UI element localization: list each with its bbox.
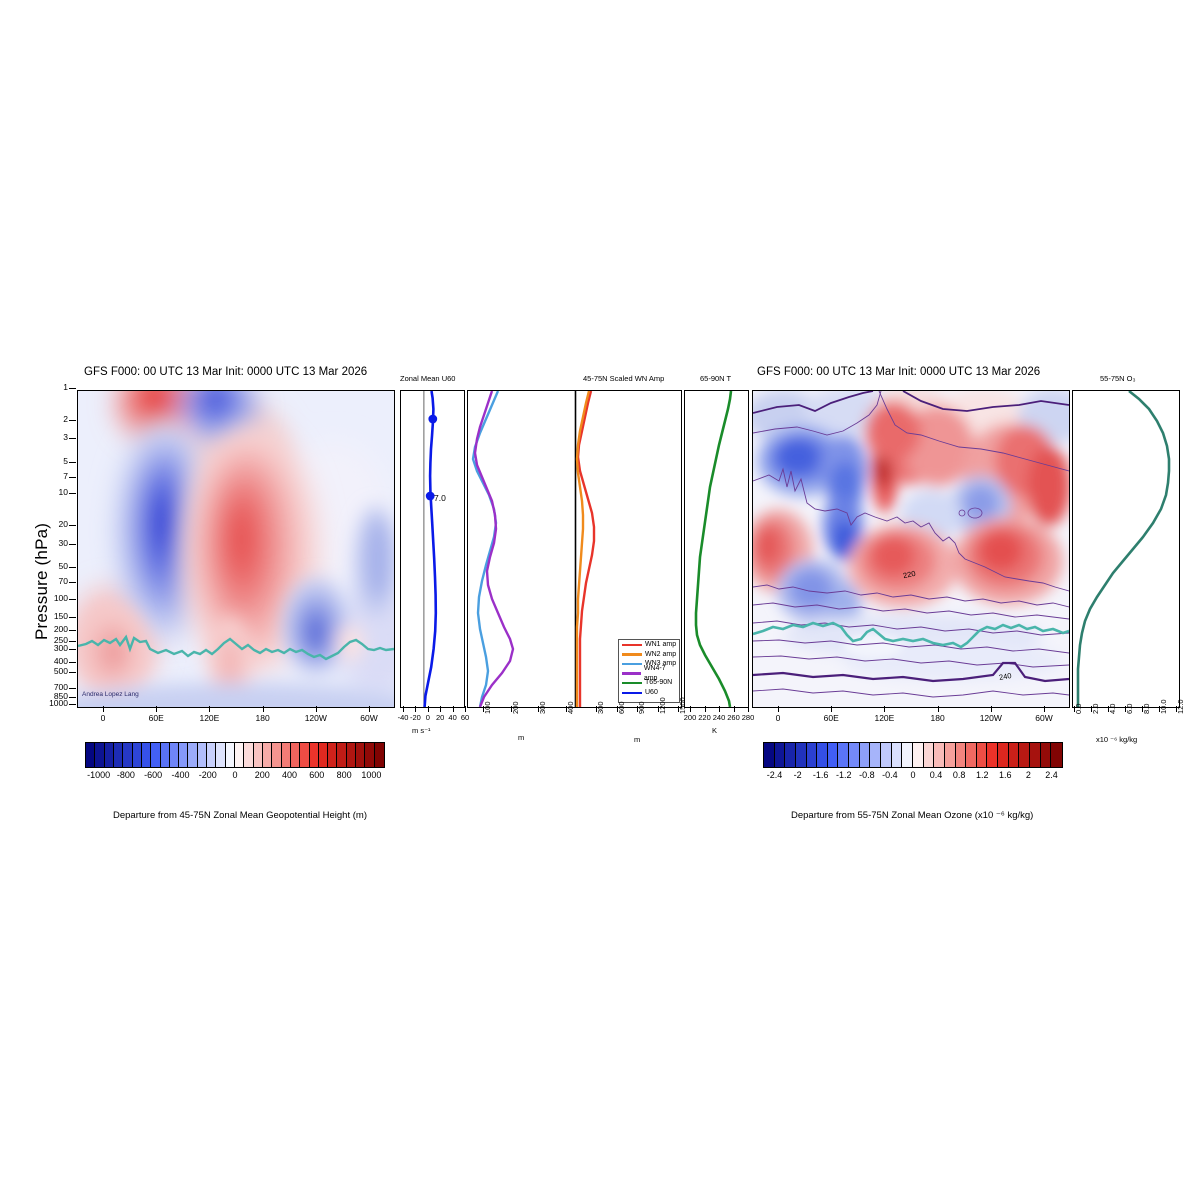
x-tick-label: 60W [1035, 713, 1052, 723]
colorbar-cell [86, 743, 95, 767]
x-tick-label: 200 [511, 701, 520, 714]
x-tick-label: 120E [874, 713, 894, 723]
x-tick-mark [938, 706, 939, 712]
legend-swatch [622, 672, 641, 674]
x-tick-label: 900 [637, 701, 646, 714]
y-tick-mark [69, 493, 76, 494]
colorbar-cell [207, 743, 216, 767]
legend-item: U60 [619, 688, 679, 698]
wn-amp-legend: WN1 ampWN2 ampWN3 ampWN4-7 ampT65-90NU60 [618, 639, 680, 703]
x-axis-wn-large-units: m [634, 735, 640, 744]
colorbar-cell [375, 743, 384, 767]
x-tick-mark [748, 706, 749, 712]
u60-plot [401, 391, 464, 707]
y-tick-mark [69, 477, 76, 478]
x-tick-label: 200 [684, 713, 697, 722]
colorbar-cell [337, 743, 346, 767]
colorbar-geopotential-height [85, 742, 385, 768]
colorbar-cell [272, 743, 281, 767]
x-tick-label: 180 [256, 713, 270, 723]
u60-marker-value: 7.0 [434, 493, 446, 503]
x-tick-label: 20 [436, 713, 444, 722]
x-tick-label: 0 [776, 713, 781, 723]
y-tick-label: 150 [34, 611, 68, 621]
legend-swatch [622, 663, 642, 665]
x-tick-label: 240 [713, 713, 726, 722]
x-tick-label: 60E [824, 713, 839, 723]
colorbar-cell [764, 743, 775, 767]
colorbar-cell [796, 743, 807, 767]
colorbar-cell [987, 743, 998, 767]
y-tick-label: 3 [34, 432, 68, 442]
colorbar-cell [817, 743, 828, 767]
colorbar-cell [998, 743, 1009, 767]
u60-marker-upper [428, 415, 437, 424]
x-tick-mark [884, 706, 885, 712]
colorbar-cell [300, 743, 309, 767]
colorbar-cell [161, 743, 170, 767]
colorbar-tick-label: 0.4 [930, 770, 943, 780]
colorbar-cell [319, 743, 328, 767]
panel-ozone-departure[interactable] [752, 390, 1070, 708]
x-tick-label: 40 [448, 713, 456, 722]
y-tick-label: 70 [34, 576, 68, 586]
left-main-title: GFS F000: 00 UTC 13 Mar Init: 0000 UTC 1… [84, 366, 367, 378]
colorbar-tick-label: 1000 [361, 770, 381, 780]
colorbar-cell [785, 743, 796, 767]
colorbar-tick-label: 0 [910, 770, 915, 780]
colorbar-cell [95, 743, 104, 767]
x-tick-mark [103, 706, 104, 712]
y-tick-label: 1 [34, 382, 68, 392]
colorbar-tick-label: -2.4 [767, 770, 783, 780]
x-tick-mark [778, 706, 779, 712]
x-axis-o3-units: x10 ⁻⁶ kg/kg [1096, 735, 1137, 744]
legend-swatch [622, 644, 642, 646]
panel-temperature[interactable] [684, 390, 749, 708]
colorbar-cell [235, 743, 244, 767]
right-main-title: GFS F000: 00 UTC 13 Mar Init: 0000 UTC 1… [757, 366, 1040, 378]
colorbar-cell [807, 743, 818, 767]
x-tick-label: 180 [931, 713, 945, 723]
colorbar-cell [188, 743, 197, 767]
colorbar-cell [1041, 743, 1052, 767]
colorbar-cell [114, 743, 123, 767]
geopotential-height-field [78, 391, 394, 707]
x-axis-longitude-ticks: 060E120E180120W60W [77, 712, 395, 728]
colorbar-cell [977, 743, 988, 767]
colorbar-tick-label: 1.6 [999, 770, 1012, 780]
colorbar-tick-label: -200 [199, 770, 217, 780]
x-tick-label: 220 [698, 713, 711, 722]
colorbar-tick-label: 1.2 [976, 770, 989, 780]
colorbar-cell [291, 743, 300, 767]
x-axis-temp-ticks: 200220240260280 [684, 712, 754, 728]
legend-item: WN1 amp [619, 640, 679, 650]
x-tick-label: 60W [360, 713, 377, 723]
x-tick-label: 120W [305, 713, 327, 723]
colorbar-ozone-ticks: -2.4-2-1.6-1.2-0.8-0.400.40.81.21.622.4 [763, 770, 1063, 786]
x-tick-label: 12.0 [1176, 699, 1185, 714]
x-tick-label: 600 [617, 701, 626, 714]
author-credit: Andrea Lopez Lang [82, 691, 139, 698]
colorbar-cell [849, 743, 860, 767]
x-tick-label: 10.0 [1159, 699, 1168, 714]
x-tick-mark [453, 706, 454, 712]
colorbar-cell [828, 743, 839, 767]
y-tick-label: 500 [34, 666, 68, 676]
x-axis-wn-small-ticks: 100200300400 [467, 712, 582, 742]
x-tick-mark [209, 706, 210, 712]
colorbar-tick-label: -0.4 [882, 770, 898, 780]
x-tick-label: 0 [101, 713, 106, 723]
y-tick-label: 30 [34, 538, 68, 548]
x-tick-label: 1200 [658, 697, 667, 714]
x-tick-label: 120E [199, 713, 219, 723]
y-tick-mark [69, 388, 76, 389]
x-tick-label: 0.0 [1074, 704, 1083, 714]
colorbar-height-ticks: -1000-800-600-400-20002004006008001000 [85, 770, 385, 786]
u60-curve [425, 391, 436, 707]
colorbar-tick-label: -1.6 [813, 770, 829, 780]
colorbar-tick-label: -0.8 [859, 770, 875, 780]
colorbar-tick-label: 400 [282, 770, 297, 780]
y-tick-label: 300 [34, 643, 68, 653]
y-tick-mark [69, 662, 76, 663]
x-axis-wn-small-units: m [518, 733, 524, 742]
x-tick-mark [403, 706, 404, 712]
colorbar-cell [775, 743, 786, 767]
x-tick-mark [1044, 706, 1045, 712]
x-tick-mark [316, 706, 317, 712]
t65-90n-curve [696, 391, 731, 707]
y-tick-mark [69, 630, 76, 631]
x-tick-label: -40 [398, 713, 409, 722]
colorbar-cell [902, 743, 913, 767]
colorbar-cell [151, 743, 160, 767]
colorbar-cell [310, 743, 319, 767]
colorbar-tick-label: -600 [144, 770, 162, 780]
colorbar-tick-label: 800 [337, 770, 352, 780]
x-tick-mark [719, 706, 720, 712]
y-tick-mark [69, 697, 76, 698]
x-tick-mark [465, 706, 466, 712]
panel-title-wn-amp: 45-75N Scaled WN Amp [583, 374, 664, 383]
y-tick-mark [69, 688, 76, 689]
wn2-curve [577, 391, 589, 707]
panel-zonal-mean-u60[interactable] [400, 390, 465, 708]
colorbar-cell [123, 743, 132, 767]
x-tick-label: 60E [149, 713, 164, 723]
x-tick-label: -20 [410, 713, 421, 722]
colorbar-cell [881, 743, 892, 767]
colorbar-cell [105, 743, 114, 767]
x-axis-temp-units: K [712, 726, 717, 735]
y-tick-mark [69, 599, 76, 600]
temperature-plot [685, 391, 748, 707]
y-tick-label: 50 [34, 561, 68, 571]
y-tick-mark [69, 462, 76, 463]
y-tick-mark [69, 567, 76, 568]
legend-item: T65-90N [619, 678, 679, 688]
colorbar-cell [870, 743, 881, 767]
legend-item: WN4-7 amp [619, 669, 679, 679]
legend-label: WN1 amp [645, 640, 676, 650]
x-tick-mark [705, 706, 706, 712]
colorbar-cell [365, 743, 374, 767]
colorbar-tick-label: 2 [1026, 770, 1031, 780]
ozone-profile-plot [1073, 391, 1179, 707]
colorbar-cell [945, 743, 956, 767]
colorbar-cell [254, 743, 263, 767]
colorbar-cell [956, 743, 967, 767]
legend-item: WN2 amp [619, 650, 679, 660]
colorbar-tick-label: -400 [171, 770, 189, 780]
x-tick-label: 0 [426, 713, 430, 722]
y-tick-label: 7 [34, 471, 68, 481]
colorbar-cell [328, 743, 337, 767]
colorbar-tick-label: -800 [117, 770, 135, 780]
x-tick-mark [690, 706, 691, 712]
colorbar-cell [860, 743, 871, 767]
y-tick-mark [69, 672, 76, 673]
x-tick-mark [415, 706, 416, 712]
colorbar-cell [934, 743, 945, 767]
y-tick-mark [69, 420, 76, 421]
x-tick-mark [428, 706, 429, 712]
y-tick-label: 20 [34, 519, 68, 529]
y-tick-label: 1000 [34, 698, 68, 708]
x-tick-mark [156, 706, 157, 712]
colorbar-cell [924, 743, 935, 767]
colorbar-cell [347, 743, 356, 767]
colorbar-ozone [763, 742, 1063, 768]
x-tick-label: 120W [980, 713, 1002, 723]
panel-ozone-profile[interactable] [1072, 390, 1180, 708]
panel-geopotential-height[interactable] [77, 390, 395, 708]
legend-label: U60 [645, 688, 658, 698]
figure-canvas: GFS F000: 00 UTC 13 Mar Init: 0000 UTC 1… [0, 0, 1200, 1200]
legend-label: WN2 amp [645, 650, 676, 660]
colorbar-cell [1009, 743, 1020, 767]
colorbar-cell [133, 743, 142, 767]
y-tick-mark [69, 544, 76, 545]
x-axis-u60-ticks: -40-200204060 [395, 712, 473, 728]
y-tick-label: 10 [34, 487, 68, 497]
colorbar-cell [263, 743, 272, 767]
y-tick-mark [69, 641, 76, 642]
colorbar-cell [282, 743, 291, 767]
colorbar-cell [170, 743, 179, 767]
colorbar-cell [356, 743, 365, 767]
colorbar-tick-label: -1000 [87, 770, 110, 780]
x-tick-mark [440, 706, 441, 712]
colorbar-tick-label: 200 [255, 770, 270, 780]
x-tick-label: 6.0 [1125, 704, 1134, 714]
y-tick-mark [69, 438, 76, 439]
y-tick-label: 400 [34, 656, 68, 666]
colorbar-cell [216, 743, 225, 767]
x-tick-mark [831, 706, 832, 712]
colorbar-tick-label: 600 [309, 770, 324, 780]
x-tick-label: 300 [538, 701, 547, 714]
colorbar-cell [179, 743, 188, 767]
y-tick-label: 2 [34, 414, 68, 424]
colorbar-tick-label: 2.4 [1045, 770, 1058, 780]
y-tick-label: 100 [34, 593, 68, 603]
colorbar-cell [244, 743, 253, 767]
colorbar-cell [838, 743, 849, 767]
panel-title-ozone: 55-75N O₃ [1100, 374, 1136, 383]
panel-title-temp: 65-90N T [700, 374, 731, 383]
x-tick-label: 300 [596, 701, 605, 714]
y-tick-mark [69, 582, 76, 583]
colorbar-cell [142, 743, 151, 767]
colorbar-cell [1051, 743, 1062, 767]
x-tick-label: 100 [483, 701, 492, 714]
y-axis-ticks: 1235710203050701001502002503004005007008… [40, 388, 76, 710]
colorbar-ozone-caption: Departure from 55-75N Zonal Mean Ozone (… [791, 810, 1033, 821]
y-tick-label: 200 [34, 624, 68, 634]
colorbar-tick-label: -1.2 [836, 770, 852, 780]
colorbar-cell [1030, 743, 1041, 767]
colorbar-cell [1019, 743, 1030, 767]
colorbar-tick-label: 0 [232, 770, 237, 780]
panel-title-u60: Zonal Mean U60 [400, 374, 455, 383]
colorbar-cell [966, 743, 977, 767]
legend-swatch [622, 692, 642, 694]
y-tick-mark [69, 617, 76, 618]
x-tick-mark [734, 706, 735, 712]
legend-swatch [622, 682, 642, 684]
x-tick-mark [369, 706, 370, 712]
x-axis-u60-units: m s⁻¹ [412, 726, 431, 735]
x-tick-label: 400 [566, 701, 575, 714]
y-tick-label: 5 [34, 456, 68, 466]
y-tick-mark [69, 649, 76, 650]
colorbar-cell [198, 743, 207, 767]
legend-swatch [622, 653, 642, 655]
o3-profile-curve [1078, 391, 1169, 707]
colorbar-cell [226, 743, 235, 767]
x-tick-label: 260 [727, 713, 740, 722]
colorbar-tick-label: 0.8 [953, 770, 966, 780]
x-tick-label: 4.0 [1108, 704, 1117, 714]
x-tick-mark [263, 706, 264, 712]
x-axis-longitude-ticks-right: 060E120E180120W60W [752, 712, 1070, 728]
y-tick-mark [69, 525, 76, 526]
colorbar-tick-label: -2 [794, 770, 802, 780]
x-tick-mark [991, 706, 992, 712]
y-tick-mark [69, 704, 76, 705]
x-tick-label: 2.0 [1091, 704, 1100, 714]
colorbar-cell [892, 743, 903, 767]
colorbar-height-caption: Departure from 45-75N Zonal Mean Geopote… [113, 810, 367, 821]
ozone-departure-field [753, 391, 1069, 707]
wn4-7-curve [475, 391, 513, 707]
x-tick-label: 8.0 [1142, 704, 1151, 714]
legend-label: T65-90N [645, 678, 672, 688]
colorbar-cell [913, 743, 924, 767]
